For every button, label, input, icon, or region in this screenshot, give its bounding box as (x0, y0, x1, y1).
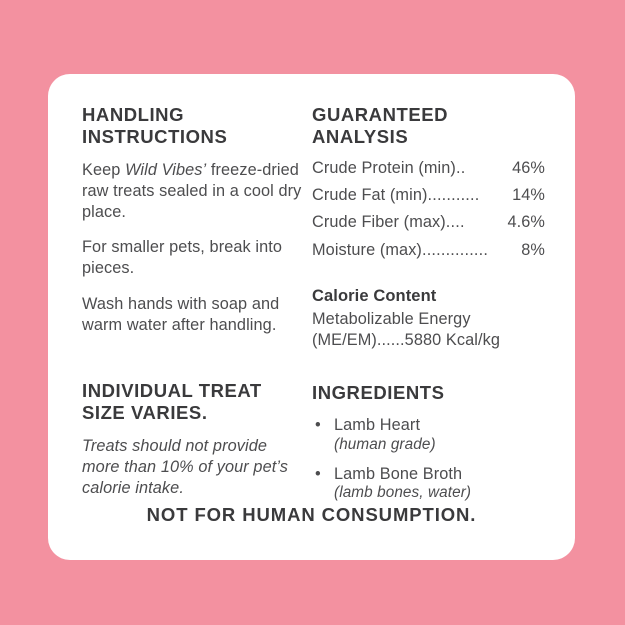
calorie-dot-leader: ...... (377, 331, 405, 349)
handling-paragraph-3: Wash hands with soap and warm water afte… (82, 294, 306, 336)
ingredients-heading: INGREDIENTS (312, 382, 545, 404)
calorie-me-label: (ME/EM) (312, 331, 377, 349)
left-column: HANDLING INSTRUCTIONS Keep Wild Vibes’ f… (82, 104, 306, 499)
analysis-nutrient-value: 14% (512, 187, 545, 203)
analysis-row: Crude Fat (min) ........... 14% (312, 187, 545, 203)
analysis-nutrient-name: Crude Fiber (max) (312, 214, 446, 230)
label-columns: HANDLING INSTRUCTIONS Keep Wild Vibes’ f… (82, 104, 541, 503)
list-item: • Lamb Bone Broth (lamb bones, water) (312, 464, 545, 503)
bullet-icon: • (312, 464, 334, 503)
ingredients-list: • Lamb Heart (human grade) • Lamb Bone B… (312, 415, 545, 502)
right-column: GUARANTEED ANALYSIS Crude Protein (min) … (312, 104, 545, 503)
analysis-row: Moisture (max) .............. 8% (312, 242, 545, 258)
calorie-energy-label: Metabolizable Energy (312, 309, 545, 331)
analysis-calorie-spacer (312, 269, 545, 287)
analysis-row: Crude Fiber (max) .... 4.6% (312, 214, 545, 230)
ingredient-body: Lamb Bone Broth (lamb bones, water) (334, 464, 545, 503)
ingredient-name: Lamb Bone Broth (334, 465, 462, 483)
left-column-spacer (82, 350, 306, 380)
analysis-nutrient-value: 4.6% (507, 214, 545, 230)
handling-instructions-heading: HANDLING INSTRUCTIONS (82, 104, 306, 148)
brand-name-emphasis: Wild Vibes’ (125, 161, 206, 179)
calorie-energy-value-row: (ME/EM)......5880 Kcal/kg (312, 330, 545, 352)
analysis-dot-leader: .. (456, 160, 512, 176)
analysis-row: Crude Protein (min) .. 46% (312, 160, 545, 176)
handling-paragraph-1: Keep Wild Vibes’ freeze-dried raw treats… (82, 160, 306, 224)
calorie-energy-value: 5880 Kcal/kg (405, 331, 500, 349)
list-item: • Lamb Heart (human grade) (312, 415, 545, 454)
analysis-dot-leader: .............. (422, 242, 521, 258)
product-label-card: HANDLING INSTRUCTIONS Keep Wild Vibes’ f… (48, 74, 575, 560)
analysis-dot-leader: .... (446, 214, 508, 230)
analysis-dot-leader: ........... (428, 187, 513, 203)
analysis-nutrient-value: 46% (512, 160, 545, 176)
bullet-icon: • (312, 415, 334, 454)
ingredient-name: Lamb Heart (334, 416, 420, 434)
treat-size-heading: INDIVIDUAL TREAT SIZE VARIES. (82, 380, 306, 424)
guaranteed-analysis-list: Crude Protein (min) .. 46% Crude Fat (mi… (312, 160, 545, 258)
ingredient-body: Lamb Heart (human grade) (334, 415, 545, 454)
analysis-nutrient-name: Crude Protein (min) (312, 160, 456, 176)
analysis-nutrient-value: 8% (521, 242, 545, 258)
ingredient-detail: (lamb bones, water) (334, 484, 471, 501)
treat-size-note: Treats should not provide more than 10% … (82, 436, 306, 500)
calorie-content-heading: Calorie Content (312, 287, 545, 307)
analysis-nutrient-name: Crude Fat (min) (312, 187, 428, 203)
handling-paragraph-1-before: Keep (82, 161, 125, 179)
analysis-nutrient-name: Moisture (max) (312, 242, 422, 258)
guaranteed-analysis-heading: GUARANTEED ANALYSIS (312, 104, 545, 148)
ingredient-detail: (human grade) (334, 436, 436, 453)
human-consumption-warning: NOT FOR HUMAN CONSUMPTION. (48, 504, 575, 526)
handling-paragraph-2: For smaller pets, break into pieces. (82, 237, 306, 279)
calorie-ingredients-spacer (312, 352, 545, 382)
